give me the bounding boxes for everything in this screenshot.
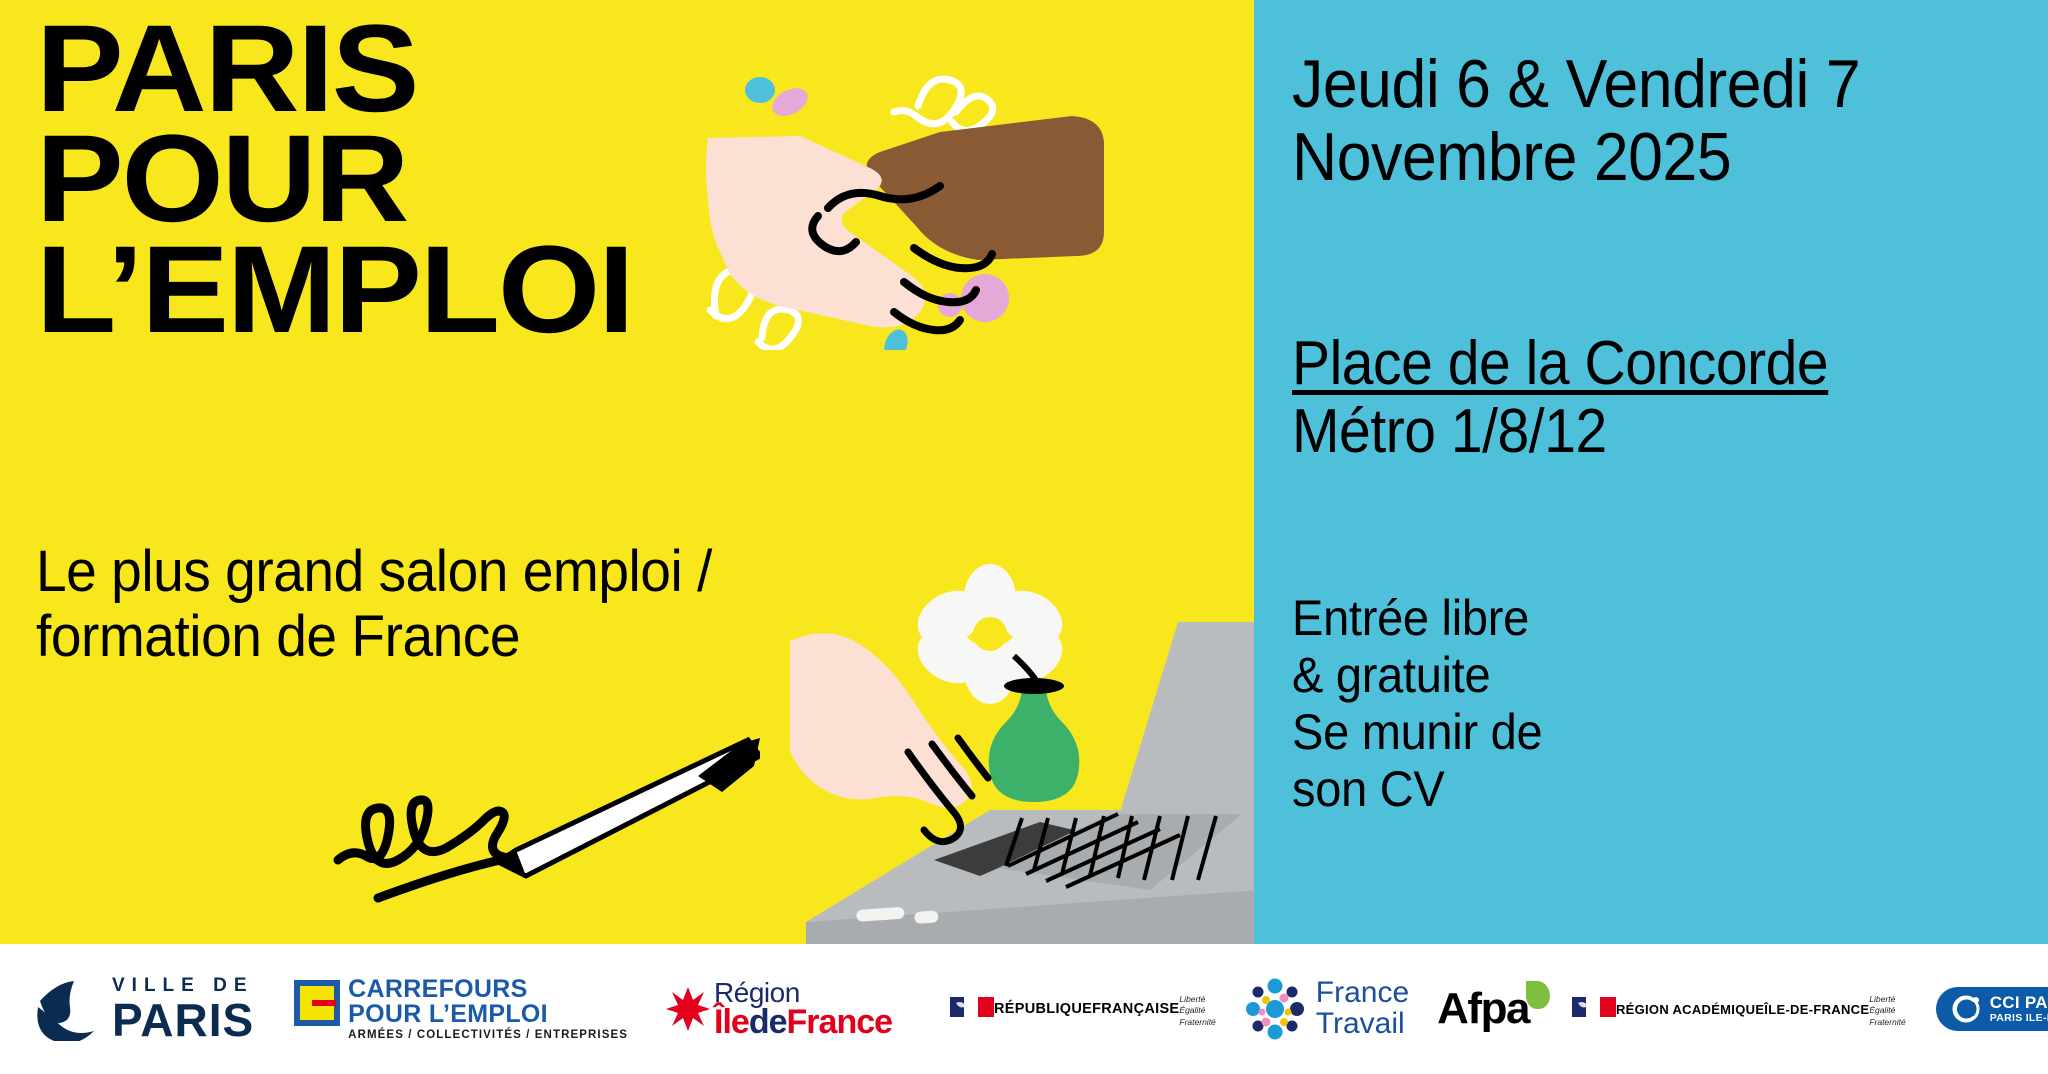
headline-line-3: L’EMPLOI bbox=[36, 235, 632, 345]
subtitle: Le plus grand salon emploi / formation d… bbox=[36, 540, 712, 670]
logo-region-academique-devise: LibertéÉgalitéFraternité bbox=[1869, 994, 1905, 1028]
event-metro: Métro 1/8/12 bbox=[1292, 398, 1828, 466]
event-venue: Place de la Concorde bbox=[1292, 330, 1828, 398]
logo-region-ile-de-france[interactable]: Région ÎledeFrance bbox=[666, 980, 892, 1039]
logo-france-travail-line1: France bbox=[1316, 978, 1409, 1009]
logo-ville-de-paris-line2: PARIS bbox=[112, 997, 254, 1043]
ville-de-paris-bird-icon bbox=[36, 977, 98, 1041]
page-title: PARIS POUR L’EMPLOI bbox=[36, 14, 632, 345]
logo-carrefours-line2: POUR L’EMPLOI bbox=[348, 1002, 628, 1027]
subtitle-line-1: Le plus grand salon emploi / bbox=[36, 540, 712, 605]
logo-carrefours-line1: CARREFOURS bbox=[348, 977, 628, 1002]
logo-republique-devise: LibertéÉgalitéFraternité bbox=[1179, 994, 1215, 1028]
event-location: Place de la Concorde Métro 1/8/12 bbox=[1292, 330, 1828, 466]
event-dates-line-2: Novembre 2025 bbox=[1292, 121, 2048, 194]
cci-emblem-icon bbox=[1952, 994, 1982, 1024]
logo-region-academique-idf[interactable]: RÉGION ACADÉMIQUE ÎLE-DE-FRANCE LibertéÉ… bbox=[1572, 990, 1906, 1028]
carrefours-mark-icon bbox=[294, 980, 340, 1026]
logo-cci-line1: CCI PARIS bbox=[1990, 994, 2048, 1013]
logo-carrefours-line3: ARMÉES / COLLECTIVITÉS / ENTREPRISES bbox=[348, 1030, 628, 1042]
logo-afpa[interactable]: Afpa bbox=[1437, 987, 1550, 1031]
logo-region-idf-france: France bbox=[787, 1003, 893, 1041]
logo-region-idf-line1: Région bbox=[714, 980, 892, 1007]
event-notes: Entrée libre & gratuite Se munir de son … bbox=[1292, 590, 1542, 818]
headline-line-1: PARIS bbox=[36, 14, 632, 124]
logo-ville-de-paris-line1: VILLE DE bbox=[112, 976, 254, 995]
marianne-flag-icon bbox=[950, 997, 994, 1017]
logo-region-idf-ile: Île bbox=[714, 1003, 749, 1041]
logo-carrefours-pour-lemploi[interactable]: CARREFOURS POUR L’EMPLOI ARMÉES / COLLEC… bbox=[294, 977, 628, 1042]
event-dates: Jeudi 6 & Vendredi 7 Novembre 2025 bbox=[1292, 48, 2048, 195]
logo-cci-paris[interactable]: CCI PARIS PARIS ILE-DE-FRANCE bbox=[1936, 987, 2048, 1031]
logo-republique-francaise[interactable]: RÉPUBLIQUE FRANÇAISE LibertéÉgalitéFrate… bbox=[950, 990, 1216, 1028]
region-idf-star-icon bbox=[666, 987, 710, 1031]
logo-republique-line1: RÉPUBLIQUE bbox=[994, 1002, 1092, 1017]
logo-ville-de-paris[interactable]: VILLE DE PARIS bbox=[36, 976, 254, 1043]
france-travail-dots-icon bbox=[1242, 976, 1308, 1042]
logo-region-academique-line1: RÉGION ACADÉMIQUE bbox=[1616, 1003, 1764, 1016]
hand-on-laptop-illustration bbox=[790, 560, 1254, 944]
partner-logo-bar: VILLE DE PARIS CARREFOURS POUR L’EMPLOI … bbox=[0, 944, 2048, 1074]
yellow-panel: PARIS POUR L’EMPLOI Le plus grand salon … bbox=[0, 0, 1254, 944]
poster-root: PARIS POUR L’EMPLOI Le plus grand salon … bbox=[0, 0, 2048, 1074]
logo-france-travail-line2: Travail bbox=[1316, 1009, 1409, 1040]
subtitle-line-2: formation de France bbox=[36, 605, 712, 670]
pen-signature-illustration bbox=[330, 730, 760, 944]
logo-republique-line2: FRANÇAISE bbox=[1092, 1002, 1179, 1017]
event-dates-line-1: Jeudi 6 & Vendredi 7 bbox=[1292, 48, 2048, 121]
event-notes-line-4: son CV bbox=[1292, 761, 1542, 818]
handshake-illustration bbox=[700, 20, 1120, 350]
afpa-leaf-icon bbox=[1526, 981, 1550, 1009]
logo-afpa-word: Afpa bbox=[1437, 987, 1529, 1031]
logo-cci-line2: PARIS ILE-DE-FRANCE bbox=[1990, 1013, 2048, 1025]
event-notes-line-1: Entrée libre bbox=[1292, 590, 1542, 647]
logo-region-academique-line2: ÎLE-DE-FRANCE bbox=[1764, 1003, 1869, 1016]
logo-france-travail[interactable]: France Travail bbox=[1242, 976, 1409, 1042]
headline-line-2: POUR bbox=[36, 124, 632, 234]
info-panel: Jeudi 6 & Vendredi 7 Novembre 2025 Place… bbox=[1254, 0, 2048, 944]
event-notes-line-3: Se munir de bbox=[1292, 704, 1542, 761]
event-notes-line-2: & gratuite bbox=[1292, 647, 1542, 704]
logo-region-idf-de: de bbox=[749, 1003, 787, 1041]
marianne-flag-icon bbox=[1572, 997, 1616, 1017]
